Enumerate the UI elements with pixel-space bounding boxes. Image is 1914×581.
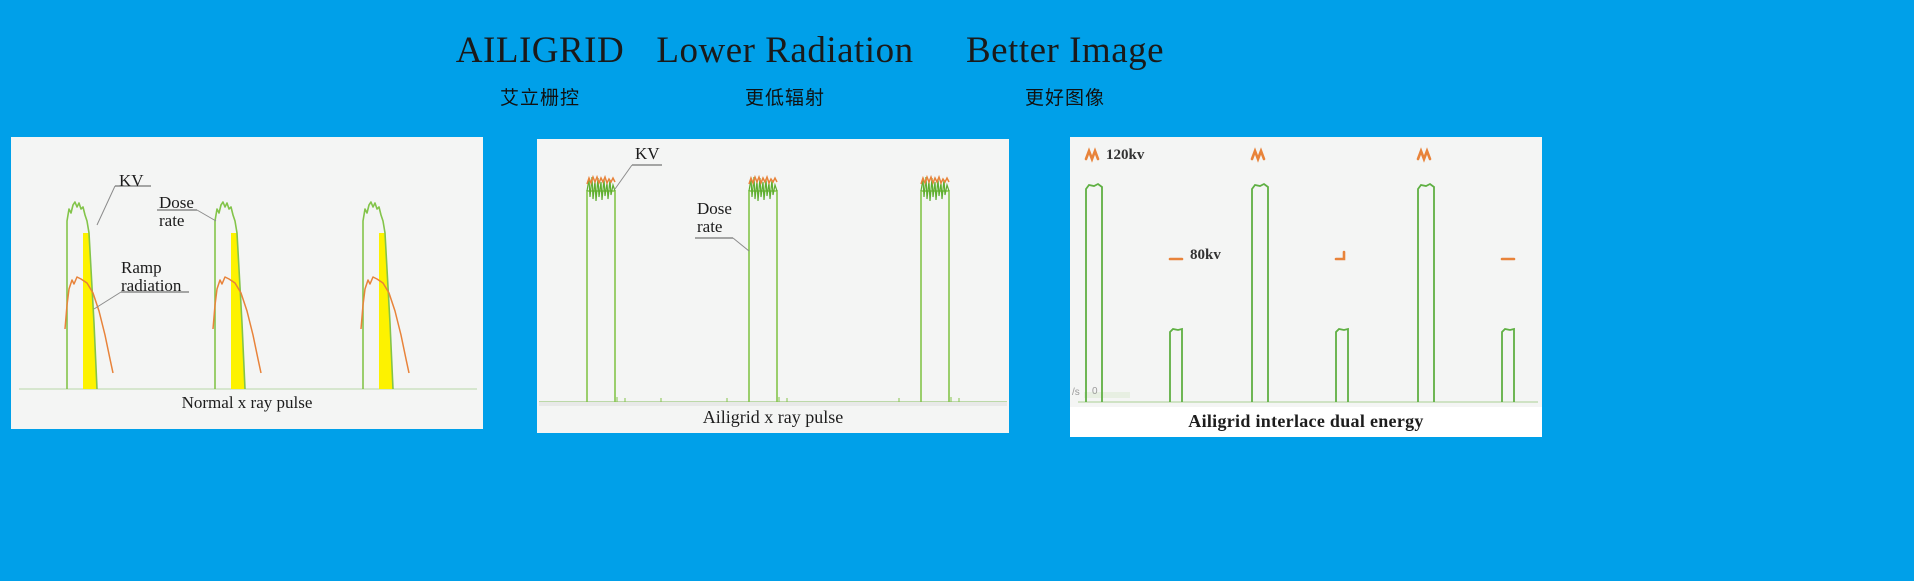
header-item-0: AILIGRID 艾立栅控 <box>430 32 650 110</box>
header-banner: AILIGRID 艾立栅控 Lower Radiation 更低辐射 Bette… <box>0 0 1914 140</box>
header-item-2: Better Image 更好图像 <box>935 32 1195 110</box>
header-item-1: Lower Radiation 更低辐射 <box>640 32 930 110</box>
pulse-80kv-1 <box>1170 329 1182 402</box>
chart-panel-normal-pulse: KV Dose rate Ramp radiation Normal x ray… <box>11 137 483 429</box>
marker-120kv-1 <box>1086 151 1098 159</box>
annotation-ramp-radiation: Ramp radiation <box>121 259 181 296</box>
pulse-80kv-3 <box>1502 329 1514 402</box>
header-title-en-1: Lower Radiation <box>640 32 930 71</box>
pulse-80kv-2 <box>1336 329 1348 402</box>
panel-caption-dual-energy: Ailigrid interlace dual energy <box>1070 411 1542 432</box>
header-title-en-0: AILIGRID <box>430 32 650 71</box>
header-title-en-2: Better Image <box>935 32 1195 71</box>
header-title-cn-0: 艾立栅控 <box>430 83 650 110</box>
label-120kv: 120kv <box>1106 147 1144 164</box>
chart-panel-dual-energy: 120kv 80kv /s 0 Ailigrid interlace dual … <box>1070 137 1542 437</box>
chart-panel-ailigrid-pulse: KV Dose rate Ailigrid x ray pulse <box>537 139 1009 433</box>
marker-120kv-2 <box>1252 151 1264 159</box>
annotation-dose-rate: Dose rate <box>159 194 194 231</box>
annotation-kv: KV <box>119 172 144 190</box>
axis-zero-tick: 0 <box>1092 386 1098 397</box>
annotation-dose-rate: Dose rate <box>697 200 732 237</box>
pulse-120kv-1 <box>1086 184 1102 402</box>
header-title-cn-2: 更好图像 <box>935 83 1195 110</box>
pulse-120kv-2 <box>1252 184 1268 402</box>
marker-80kv-2 <box>1336 252 1344 259</box>
pulse-120kv-3 <box>1418 184 1434 402</box>
dual-energy-waveform <box>1070 137 1542 437</box>
normal-pulse-waveform <box>11 137 483 429</box>
annotation-kv: KV <box>635 145 660 163</box>
label-80kv: 80kv <box>1190 247 1221 264</box>
panel-caption-ailigrid: Ailigrid x ray pulse <box>537 407 1009 428</box>
header-title-cn-1: 更低辐射 <box>640 83 930 110</box>
panel-caption-normal: Normal x ray pulse <box>11 393 483 413</box>
ailigrid-pulse-waveform <box>537 139 1009 433</box>
marker-120kv-3 <box>1418 151 1430 159</box>
axis-unit-label: /s <box>1072 387 1080 398</box>
